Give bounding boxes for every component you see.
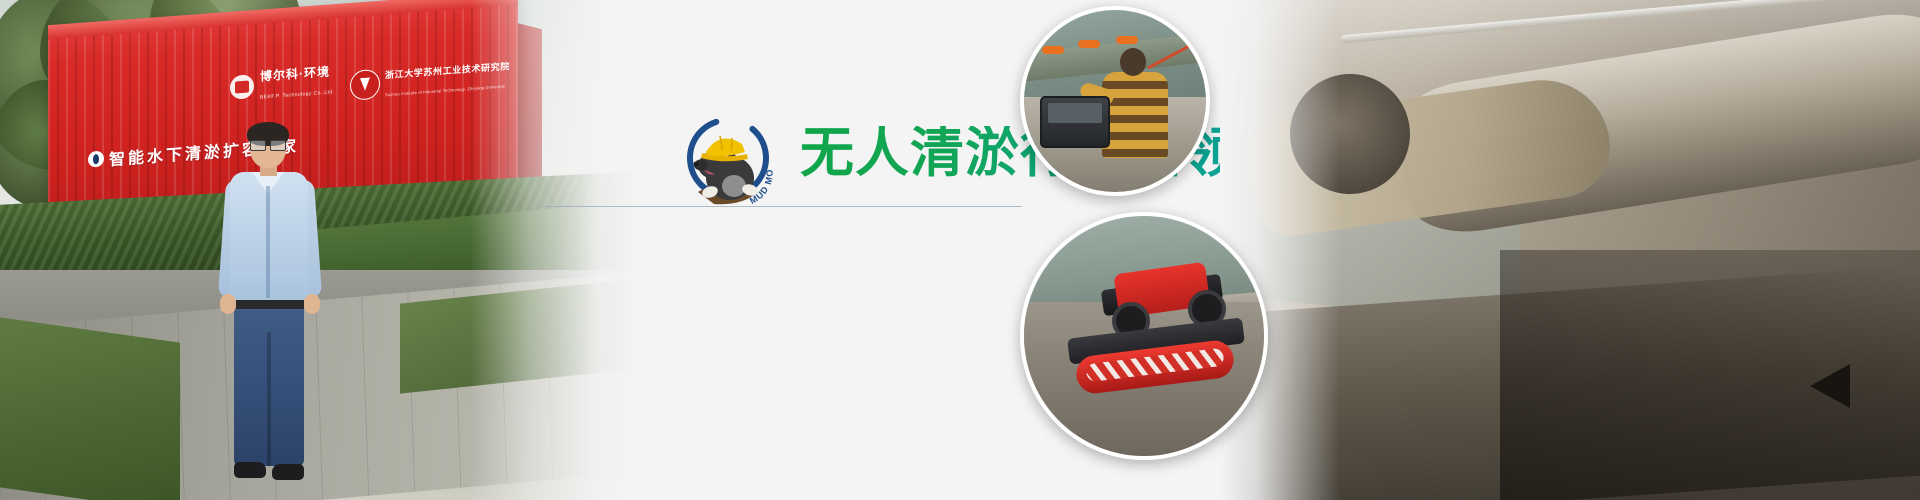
left-photo-fade — [470, 0, 640, 500]
inset-photo-operator — [1020, 6, 1210, 196]
orange-float — [1078, 40, 1100, 48]
operator-body — [1102, 72, 1168, 158]
container-brand-primary: 博尔科·环境 BEKF.P. Technology Co.,Ltd. — [230, 62, 334, 106]
person-standing — [222, 126, 318, 496]
headline-divider — [542, 206, 1022, 207]
mole-mark-icon — [88, 151, 104, 168]
container-brand-cn: 博尔科·环境 — [260, 64, 330, 83]
right-shoe — [272, 464, 304, 480]
grass — [0, 317, 180, 500]
belt — [234, 300, 304, 309]
hero-banner: 博尔科·环境 BEKF.P. Technology Co.,Ltd. 浙江大学苏… — [0, 0, 1920, 500]
control-console — [1040, 96, 1110, 148]
orange-float — [1116, 36, 1138, 44]
container-brand-en: BEKF.P. Technology Co.,Ltd. — [260, 89, 334, 100]
orange-float — [1042, 46, 1064, 54]
brand-mark-icon — [230, 74, 254, 100]
left-shoe — [234, 462, 266, 478]
right-photo-background — [1220, 0, 1920, 500]
shadow-overlay — [1500, 250, 1920, 500]
inset-photo-dredging-robot — [1020, 212, 1268, 460]
operator-head — [1120, 48, 1146, 76]
arrow-icon — [1810, 364, 1850, 408]
right-hand — [304, 294, 320, 314]
left-photo: 博尔科·环境 BEKF.P. Technology Co.,Ltd. 浙江大学苏… — [0, 0, 640, 500]
trousers — [234, 306, 304, 466]
left-hand — [220, 294, 236, 314]
mud-mole-logo: MUD MOLE — [680, 108, 780, 208]
glasses-icon — [250, 140, 286, 149]
shirt-placket — [266, 186, 270, 298]
university-seal-icon — [350, 69, 380, 101]
